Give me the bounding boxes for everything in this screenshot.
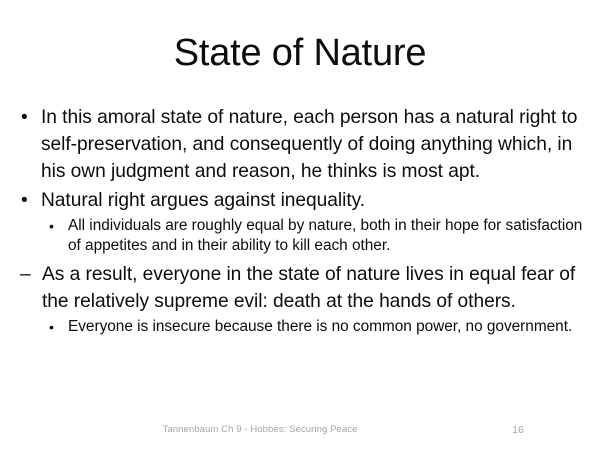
bullet-item-1: • In this amoral state of nature, each p… [14,104,586,186]
sub-bullet-item-2: • Everyone is insecure because there is … [14,317,586,338]
bullet-item-2: • Natural right argues against inequalit… [14,187,586,214]
bullet-text: Natural right argues against inequality. [41,190,365,211]
bullet-marker-dot-icon: • [21,187,39,214]
sub-bullet-item-1: • All individuals are roughly equal by n… [14,216,586,257]
sub-bullet-marker-dot-icon: • [49,216,63,237]
page-number: 16 [492,423,544,437]
bullet-item-3: – As a result, everyone in the state of … [14,261,586,315]
bullet-marker-dash-icon: – [20,261,38,288]
bullet-marker-dot-icon: • [21,104,39,131]
sub-bullet-text: Everyone is insecure because there is no… [68,318,572,335]
slide-body-content: • In this amoral state of nature, each p… [14,104,586,340]
sub-bullet-marker-dot-icon: • [49,317,63,338]
bullet-text: In this amoral state of nature, each per… [41,107,577,182]
presentation-slide: State of Nature • In this amoral state o… [0,0,600,450]
slide-footer: Tannenbaum Ch 9 - Hobbes: Securing Peace… [0,423,600,439]
slide-title: State of Nature [0,32,600,75]
sub-bullet-text: All individuals are roughly equal by nat… [68,217,582,255]
footer-text: Tannenbaum Ch 9 - Hobbes: Securing Peace [60,423,460,437]
bullet-text: As a result, everyone in the state of na… [42,264,575,312]
